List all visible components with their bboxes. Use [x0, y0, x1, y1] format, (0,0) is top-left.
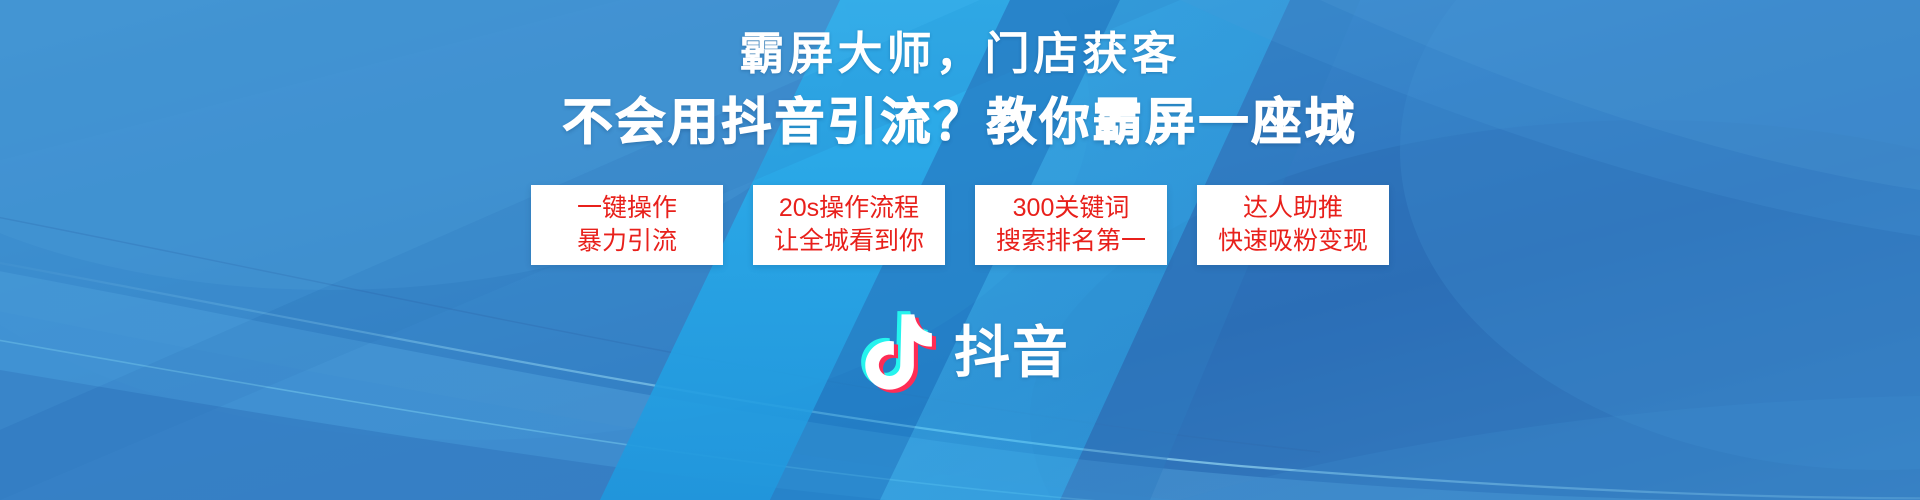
- brand-logo: 抖音: [850, 307, 1070, 399]
- feature-card-line-2: 搜索排名第一: [996, 225, 1146, 259]
- feature-card[interactable]: 达人助推 快速吸粉变现: [1197, 185, 1389, 265]
- feature-card-line-1: 一键操作: [577, 192, 677, 226]
- brand-wordmark: 抖音: [954, 325, 1070, 381]
- feature-card-list: 一键操作 暴力引流 20s操作流程 让全城看到你 300关键词 搜索排名第一 达…: [531, 185, 1389, 265]
- feature-card[interactable]: 20s操作流程 让全城看到你: [753, 185, 945, 265]
- headline-secondary: 不会用抖音引流？教你霸屏一座城: [563, 94, 1358, 152]
- promo-banner: 霸屏大师，门店获客 不会用抖音引流？教你霸屏一座城 一键操作 暴力引流 20s操…: [0, 0, 1920, 500]
- banner-content: 霸屏大师，门店获客 不会用抖音引流？教你霸屏一座城 一键操作 暴力引流 20s操…: [0, 0, 1920, 500]
- feature-card-line-2: 暴力引流: [577, 225, 677, 259]
- feature-card-line-2: 让全城看到你: [774, 225, 924, 259]
- feature-card-line-2: 快速吸粉变现: [1218, 225, 1368, 259]
- feature-card-line-1: 达人助推: [1243, 192, 1343, 226]
- feature-card-line-1: 300关键词: [1013, 192, 1130, 226]
- douyin-music-note-icon: [850, 307, 942, 399]
- headline-primary: 霸屏大师，门店获客: [739, 28, 1180, 80]
- feature-card-line-1: 20s操作流程: [779, 192, 919, 226]
- feature-card[interactable]: 300关键词 搜索排名第一: [975, 185, 1167, 265]
- feature-card[interactable]: 一键操作 暴力引流: [531, 185, 723, 265]
